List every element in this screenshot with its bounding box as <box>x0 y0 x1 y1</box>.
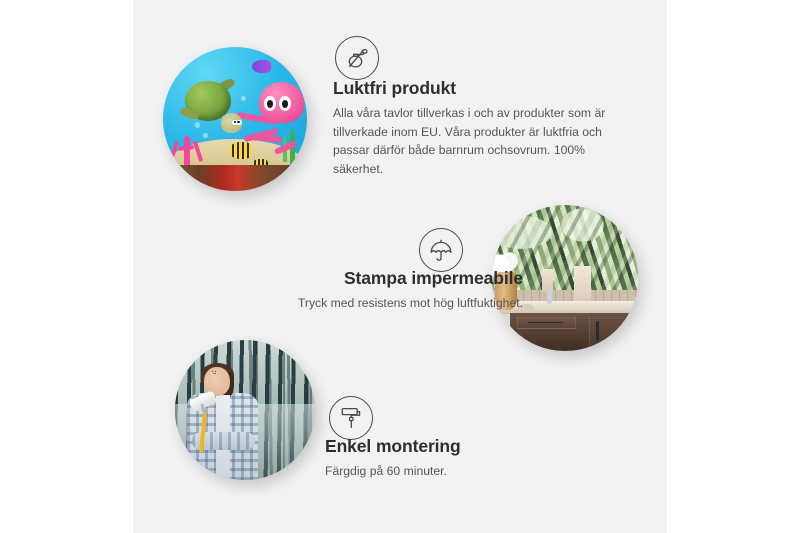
feature-description: Tryck med resistens mot hög luftfuktighe… <box>213 294 523 313</box>
faucet <box>547 287 551 305</box>
wooden-vanity <box>510 313 638 351</box>
ocean-floor-strip <box>163 165 307 191</box>
feature-panel: Luktfri produkt Alla våra tavlor tillver… <box>133 0 667 533</box>
yellow-fish-icon <box>229 142 252 159</box>
turtle-icon <box>180 79 243 137</box>
umbrella-icon <box>419 228 463 272</box>
purple-fish-icon <box>252 60 271 73</box>
feature-text-odor-free: Luktfri produkt Alla våra tavlor tillver… <box>333 78 623 178</box>
feature-description: Färgdig på 60 minuter. <box>325 462 585 481</box>
no-odor-icon <box>335 36 379 80</box>
feature-text-waterproof-print: Stampa impermeabile Tryck med resistens … <box>213 268 523 313</box>
feature-description: Alla våra tavlor tillverkas i och av pro… <box>333 104 623 178</box>
underwater-cartoon-photo[interactable] <box>163 47 307 191</box>
feature-title: Luktfri produkt <box>333 78 623 99</box>
feature-text-easy-mounting: Enkel montering Färgdig på 60 minuter. <box>325 436 585 481</box>
painter-person <box>183 365 270 480</box>
paint-roller-icon <box>329 396 373 440</box>
octopus-icon <box>247 82 305 148</box>
feature-title: Stampa impermeabile <box>213 268 523 289</box>
feature-title: Enkel montering <box>325 436 585 457</box>
vanity-door <box>589 315 633 349</box>
painter-forest-wallpaper-photo[interactable] <box>175 340 315 480</box>
screenshot-root: Luktfri produkt Alla våra tavlor tillver… <box>0 0 800 533</box>
vanity-drawer <box>517 316 576 329</box>
